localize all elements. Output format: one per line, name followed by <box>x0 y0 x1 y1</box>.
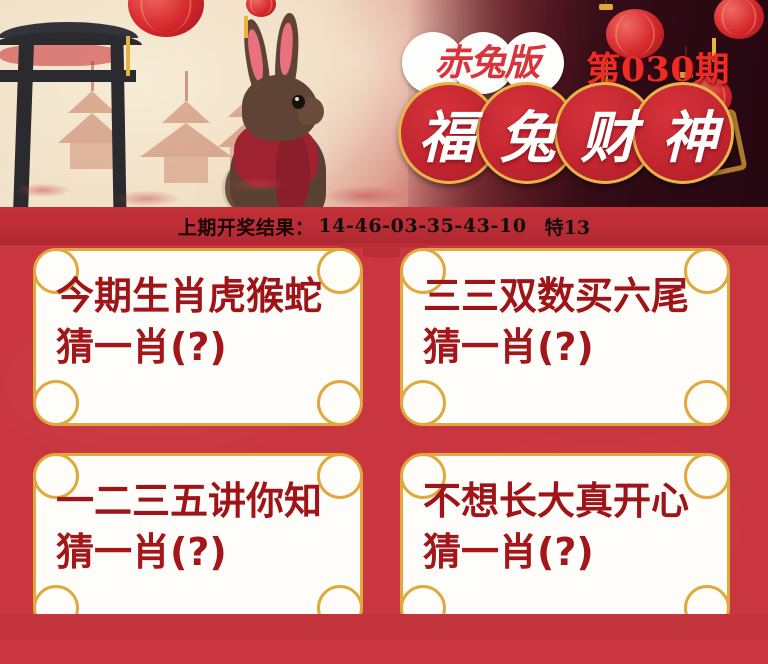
title-char-1: 福 <box>419 93 475 174</box>
riddle-line-2: 猜一肖(?) <box>423 322 727 373</box>
hero-banner: 赤兔版 第030期 福 兔 财 神 <box>0 0 768 207</box>
riddle-line-1: 一二三五讲你知 <box>56 476 360 527</box>
title-char-4: 神 <box>662 93 718 174</box>
poster-page: 赤兔版 第030期 福 兔 财 神 上期开奖结果： 14-46-03-35-43… <box>0 0 768 664</box>
last-draw-label: 上期开奖结果： <box>178 213 315 240</box>
riddle-card[interactable]: 三三双数买六尾 猜一肖(?) <box>400 248 730 426</box>
last-draw-banner: 上期开奖结果： 14-46-03-35-43-10 特13 <box>0 207 768 245</box>
title-block: 赤兔版 第030期 福 兔 财 神 <box>398 20 758 200</box>
footer-strip <box>0 614 768 640</box>
petals-decoration <box>0 151 430 207</box>
riddle-card[interactable]: 今期生肖虎猴蛇 猜一肖(?) <box>33 248 363 426</box>
title-char-3: 财 <box>581 93 637 174</box>
riddle-card[interactable]: 不想长大真开心 猜一肖(?) <box>400 453 730 631</box>
title-char-2: 兔 <box>500 93 556 174</box>
riddle-line-1: 不想长大真开心 <box>423 476 727 527</box>
riddle-card[interactable]: 一二三五讲你知 猜一肖(?) <box>33 453 363 631</box>
main-title: 福 兔 财 神 <box>398 82 738 192</box>
riddle-line-1: 三三双数买六尾 <box>423 271 727 322</box>
riddle-line-2: 猜一肖(?) <box>56 527 360 578</box>
riddle-card-grid: 今期生肖虎猴蛇 猜一肖(?) 三三双数买六尾 猜一肖(?) 一二三五讲你知 猜一… <box>0 245 768 640</box>
last-draw-numbers: 14-46-03-35-43-10 <box>318 215 526 237</box>
last-draw-special: 特13 <box>545 213 590 240</box>
riddle-line-2: 猜一肖(?) <box>56 322 360 373</box>
riddle-line-2: 猜一肖(?) <box>423 527 727 578</box>
riddle-line-1: 今期生肖虎猴蛇 <box>56 271 360 322</box>
